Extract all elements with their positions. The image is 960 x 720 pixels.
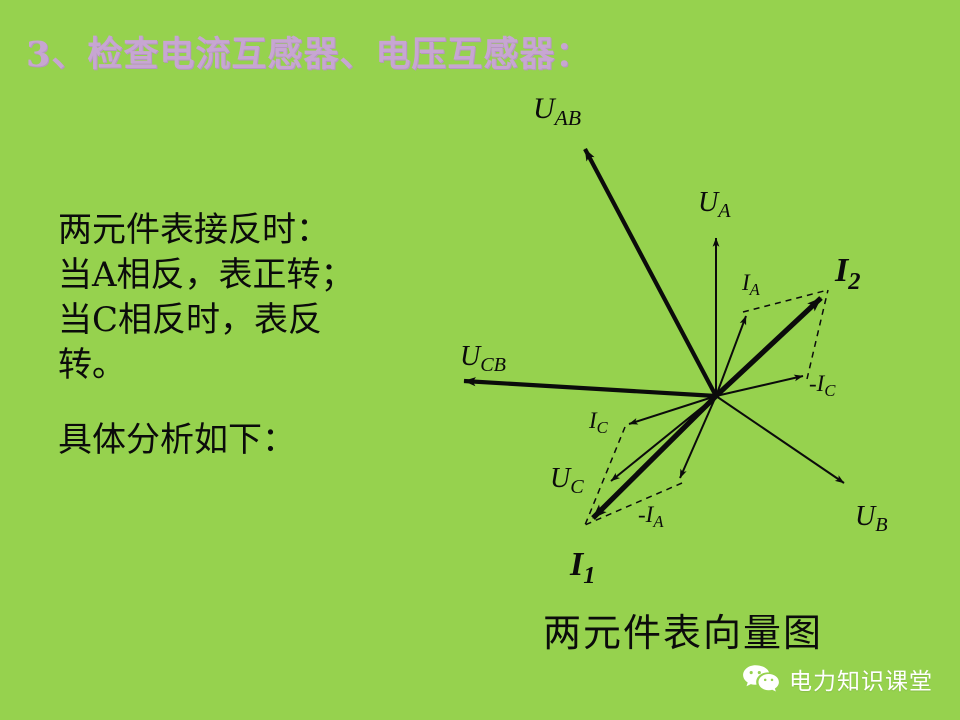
vector-U_CB — [464, 381, 716, 396]
vector-U_B — [716, 396, 844, 483]
thin-vectors — [611, 238, 844, 483]
wechat-icon — [742, 664, 780, 694]
label-U_B: UB — [855, 501, 888, 536]
label-minus-I_A: -IA — [638, 502, 664, 531]
label-minus-I_C: -IC — [809, 371, 836, 400]
label-I_A: IA — [741, 270, 761, 299]
paragraph-spacer — [58, 388, 428, 418]
phasor-diagram: UAB UA UCB UB UC I2 I1 — [430, 70, 960, 600]
vector-I_1 — [593, 396, 716, 518]
vector-minus-I_A — [680, 396, 716, 478]
body-text-block: 两元件表接反时： 当A相反，表正转； 当C相反时，表反 转。 具体分析如下： — [58, 208, 428, 462]
body-line-3: 当C相反时，表反 — [58, 298, 428, 343]
slide-canvas: 3、检查电流互感器、电压互感器： 两元件表接反时： 当A相反，表正转； 当C相反… — [0, 0, 960, 720]
label-U_AB: UAB — [533, 92, 581, 130]
figure-caption: 两元件表向量图 — [543, 602, 823, 657]
body-line-2: 当A相反，表正转； — [58, 253, 428, 298]
label-I_1: I1 — [569, 546, 595, 589]
watermark: 电力知识课堂 — [742, 662, 933, 696]
label-I_2: I2 — [834, 252, 860, 295]
label-U_A: UA — [698, 187, 731, 222]
body-line-1: 两元件表接反时： — [58, 208, 428, 253]
watermark-label: 电力知识课堂 — [789, 662, 933, 696]
resultant-vectors — [593, 298, 821, 518]
body-line-4: 转。 — [58, 343, 428, 388]
label-U_C: UC — [550, 463, 584, 498]
label-I_C: IC — [588, 408, 609, 437]
label-U_CB: UCB — [460, 341, 506, 376]
vector-labels: UAB UA UCB UB UC I2 I1 — [460, 92, 888, 589]
vector-U_AB — [585, 149, 716, 396]
vector-I_2 — [716, 298, 821, 396]
body-line-5: 具体分析如下： — [58, 418, 428, 463]
